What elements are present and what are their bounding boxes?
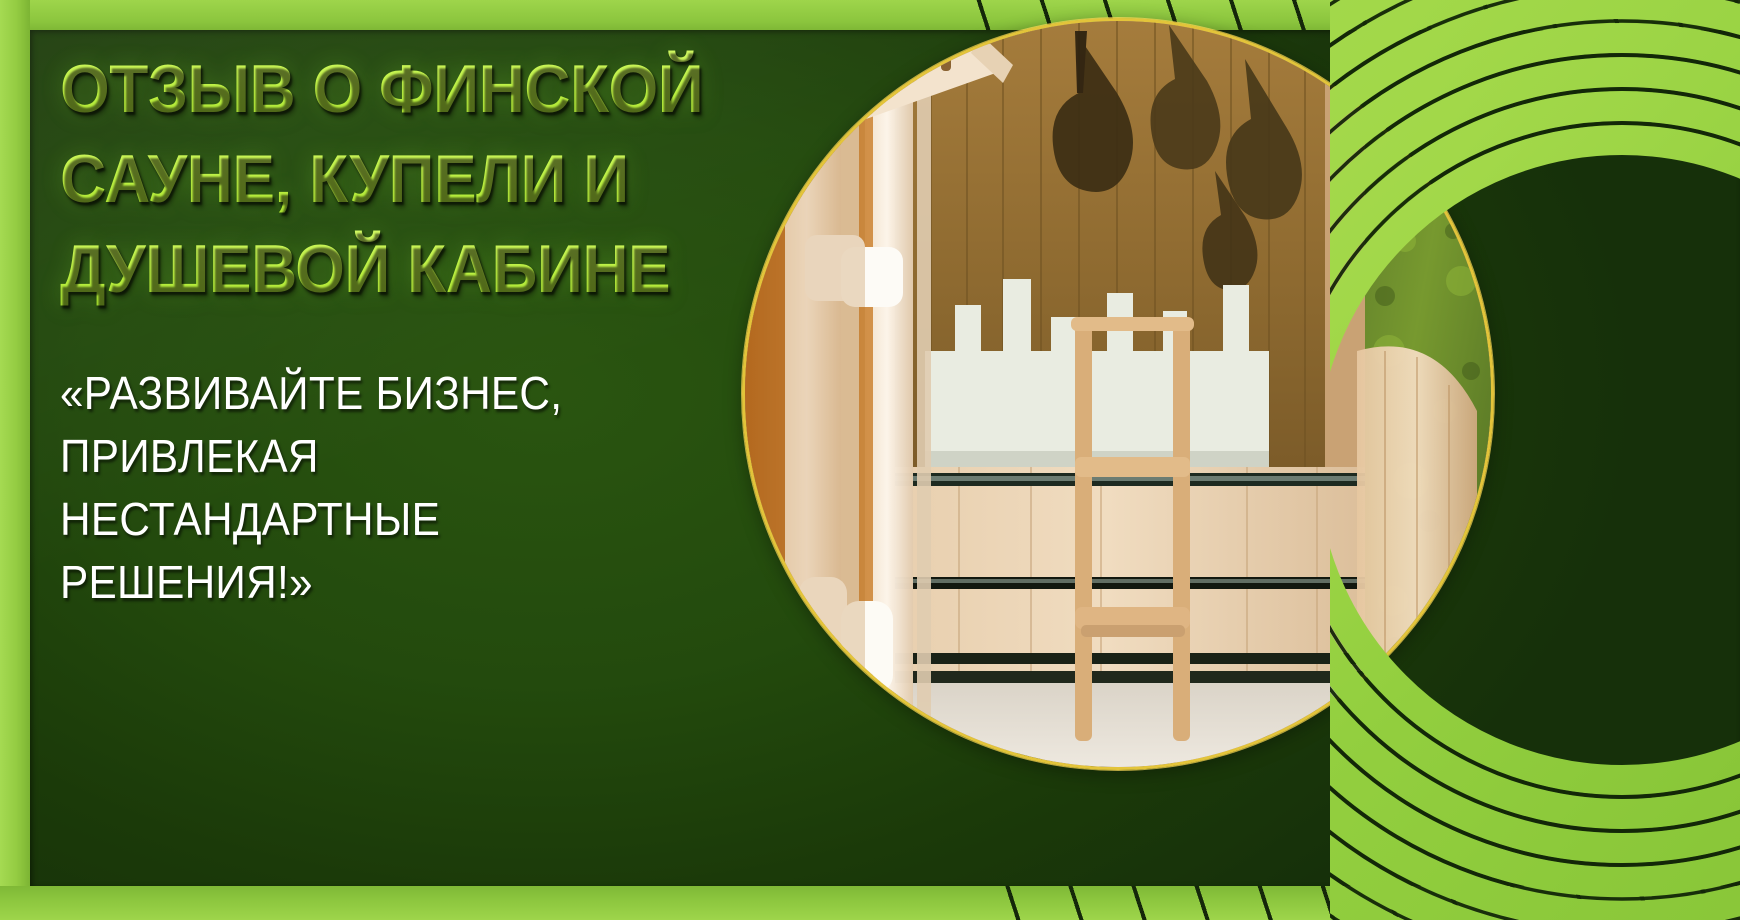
headline-line-2: САУНЕ, КУПЕЛИ И	[60, 134, 737, 224]
bottom-diagonal-stripes	[960, 886, 1740, 920]
headline-line-1: ОТЗЫВ О ФИНСКОЙ	[60, 44, 737, 134]
frame-bottom	[0, 886, 1740, 920]
headline-line-3: ДУШЕВОЙ КАБИНЕ	[60, 224, 737, 314]
promo-banner: ОТЗЫВ О ФИНСКОЙ САУНЕ, КУПЕЛИ И ДУШЕВОЙ …	[0, 0, 1740, 920]
text-block: ОТЗЫВ О ФИНСКОЙ САУНЕ, КУПЕЛИ И ДУШЕВОЙ …	[60, 44, 780, 614]
subheadline-line-4: РЕШЕНИЯ!»	[60, 551, 722, 614]
subheadline: «РАЗВИВАЙТЕ БИЗНЕС, ПРИВЛЕКАЯ НЕСТАНДАРТ…	[60, 362, 722, 614]
sauna-interior-illustration	[745, 21, 1494, 770]
frame-left	[0, 0, 30, 920]
sauna-photo-image	[745, 21, 1491, 767]
headline: ОТЗЫВ О ФИНСКОЙ САУНЕ, КУПЕЛИ И ДУШЕВОЙ …	[60, 44, 737, 314]
subheadline-line-3: НЕСТАНДАРТНЫЕ	[60, 488, 722, 551]
subheadline-line-2: ПРИВЛЕКАЯ	[60, 425, 722, 488]
subheadline-line-1: «РАЗВИВАЙТЕ БИЗНЕС,	[60, 362, 722, 425]
sauna-photo	[742, 18, 1494, 770]
